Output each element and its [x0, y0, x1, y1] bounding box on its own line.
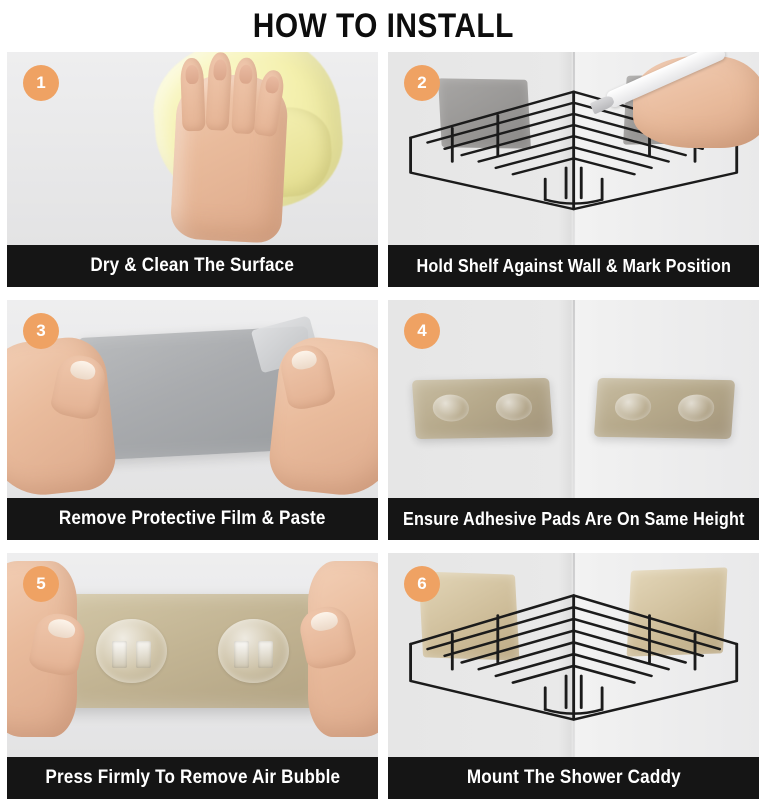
step-caption-1: Dry & Clean The Surface: [7, 245, 378, 287]
thumbnail-icon: [290, 348, 319, 371]
step-caption-6-text: Mount The Shower Caddy: [467, 767, 681, 789]
thumbnail-icon: [68, 358, 97, 381]
thumb-icon: [49, 350, 109, 420]
step-6-photo: 6: [388, 553, 759, 757]
hand-icon: [170, 72, 290, 244]
pad-mount-icon: [96, 619, 166, 683]
step-number-badge-3: 3: [23, 313, 59, 349]
title-bar: HOW TO INSTALL: [0, 0, 766, 52]
mount-clip-icon: [258, 641, 273, 668]
step-panel-5: 5 Press Firmly To Remove Air Bubble: [7, 553, 378, 799]
step-1-photo: 1: [7, 52, 378, 245]
step-caption-6: Mount The Shower Caddy: [388, 757, 759, 799]
step-number-badge-4: 4: [404, 313, 440, 349]
step-number-badge-6: 6: [404, 566, 440, 602]
step-panel-3: 3 Remove Protective Film & Paste: [7, 300, 378, 540]
step-number-badge-5: 5: [23, 566, 59, 602]
step-number-badge-1: 1: [23, 65, 59, 101]
step-caption-5: Press Firmly To Remove Air Bubble: [7, 757, 378, 799]
step-caption-2-text: Hold Shelf Against Wall & Mark Position: [416, 256, 731, 277]
step-caption-5-text: Press Firmly To Remove Air Bubble: [45, 767, 340, 789]
page-title: HOW TO INSTALL: [252, 7, 513, 46]
step-caption-2: Hold Shelf Against Wall & Mark Position: [388, 245, 759, 287]
pad-mount-icon: [218, 619, 288, 683]
fingernail-icon: [213, 60, 227, 81]
fingernail-icon: [265, 76, 281, 95]
pad-stud-icon: [677, 395, 715, 422]
step-caption-3-text: Remove Protective Film & Paste: [59, 508, 326, 530]
step-caption-4: Ensure Adhesive Pads Are On Same Height: [388, 498, 759, 540]
finger-icon: [205, 52, 232, 131]
pad-stud-icon: [495, 394, 533, 421]
fingernail-icon: [186, 65, 200, 84]
right-hand-icon: [308, 561, 378, 736]
adhesive-pad-left: [412, 378, 554, 440]
steps-grid: 1 Dry & Clean The Surface: [0, 52, 766, 809]
thumbnail-icon: [47, 616, 77, 639]
step-3-photo: 3: [7, 300, 378, 498]
step-caption-4-text: Ensure Adhesive Pads Are On Same Height: [403, 509, 745, 530]
adhesive-pad-icon: [63, 594, 323, 708]
step-caption-3: Remove Protective Film & Paste: [7, 498, 378, 540]
adhesive-pad-right: [594, 378, 736, 440]
mount-clip-icon: [112, 641, 127, 668]
wall-corner-seam: [573, 300, 575, 498]
mount-clip-icon: [136, 641, 151, 668]
wire-shower-caddy-icon: [403, 582, 744, 733]
step-panel-6: 6 Mount The Shower Caddy: [388, 553, 759, 799]
step-panel-4: 4 Ensure Adhesive Pads Are On Same Heigh…: [388, 300, 759, 540]
mount-clip-icon: [234, 641, 249, 668]
pad-stud-icon: [432, 395, 470, 422]
step-4-photo: 4: [388, 300, 759, 498]
right-hand-icon: [266, 333, 378, 498]
thumb-icon: [277, 341, 337, 411]
finger-icon: [253, 69, 286, 138]
left-hand-icon: [7, 333, 119, 498]
step-2-photo: 2: [388, 52, 759, 245]
fingernail-icon: [239, 64, 253, 85]
how-to-install-infographic: HOW TO INSTALL 1 Dry & Clean The Surface: [0, 0, 766, 791]
step-panel-1: 1 Dry & Clean The Surface: [7, 52, 378, 287]
step-number-badge-2: 2: [404, 65, 440, 101]
step-5-photo: 5: [7, 553, 378, 757]
step-caption-1-text: Dry & Clean The Surface: [91, 255, 295, 277]
step-panel-2: 2 Hold Shelf Against Wall & Mark Positio…: [388, 52, 759, 287]
thumbnail-icon: [309, 609, 339, 632]
pad-stud-icon: [614, 394, 652, 421]
